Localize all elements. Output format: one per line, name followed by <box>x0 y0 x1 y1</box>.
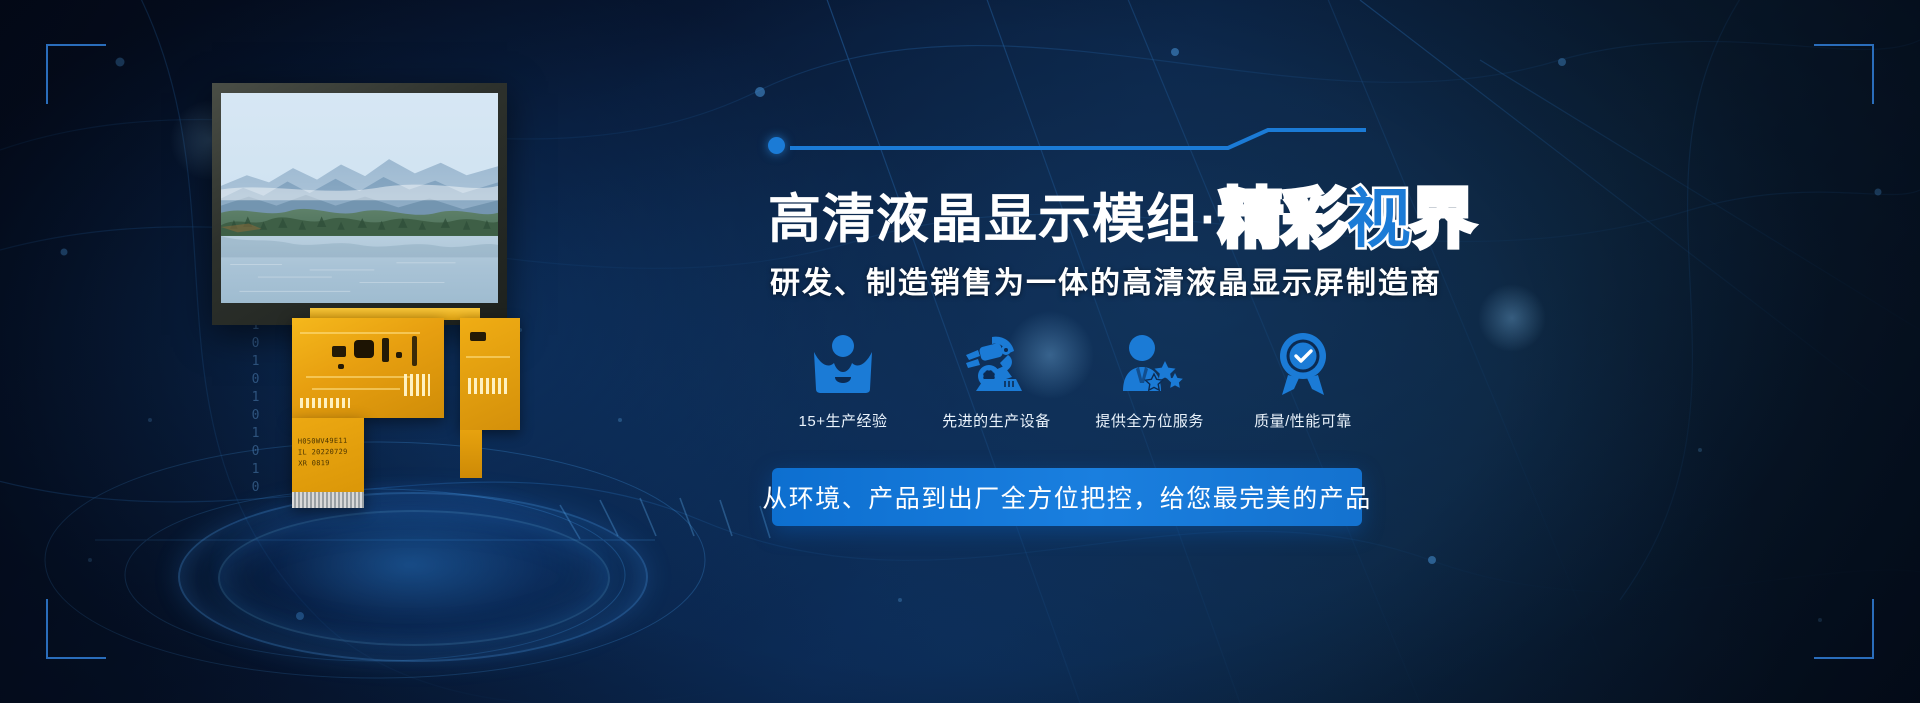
headline-highlight: 精彩视界 <box>1219 183 1475 255</box>
fpc-part-label: H050WV49E11 IL 20220729 XR 0819 <box>298 435 369 469</box>
lcd-module-product <box>212 83 507 325</box>
cta-banner[interactable]: 从环境、产品到出厂全方位把控，给您最完美的产品 <box>772 468 1362 526</box>
fpc-trace-1 <box>300 332 420 334</box>
feature-label-service: 提供全方位服务 <box>1075 410 1225 431</box>
fpc-secondary-tail <box>460 430 482 478</box>
fpc-secondary-board <box>460 318 520 430</box>
headline-char-1: 精 <box>1219 183 1283 255</box>
headline-char-2: 彩 <box>1283 183 1347 255</box>
fpc-pad-row-1 <box>404 374 430 396</box>
feature-label-equipment: 先进的生产设备 <box>921 410 1071 431</box>
fpc-chip-small-4 <box>338 364 344 369</box>
product-stage: H050WV49E11 IL 20220729 XR 0819 <box>60 40 740 660</box>
lcd-screen <box>221 93 498 303</box>
fpc-part-line-3: XR 0819 <box>298 457 368 469</box>
headline-prefix: 高清液晶显示模组· <box>768 190 1219 249</box>
fpc-chip-small-2 <box>382 338 389 362</box>
promo-banner: 01010101010 <box>0 0 1920 703</box>
fpc-connector-pins <box>412 336 417 366</box>
fpc-chip-small-3 <box>396 352 402 358</box>
robot-arm-icon <box>921 330 1071 398</box>
service-person-icon <box>1075 330 1225 398</box>
fpc-chip-small-1 <box>332 346 346 357</box>
headline-char-4: 界 <box>1411 183 1475 255</box>
feature-item-equipment[interactable]: 先进的生产设备 <box>921 330 1071 431</box>
feature-item-service[interactable]: 提供全方位服务 <box>1075 330 1225 431</box>
crown-icon <box>768 330 918 398</box>
title-accent-rule <box>768 128 1366 168</box>
quality-badge-icon <box>1228 330 1378 398</box>
headline-char-3: 视 <box>1347 183 1411 255</box>
fpc-gold-finger-strip <box>292 492 364 508</box>
feature-label-experience: 15+生产经验 <box>768 410 918 431</box>
banner-content: 高清液晶显示模组·精彩视界 研发、制造销售为一体的高清液晶显示屏制造商 15+生… <box>760 0 1880 703</box>
feature-item-experience[interactable]: 15+生产经验 <box>768 330 918 431</box>
feature-label-quality: 质量/性能可靠 <box>1228 410 1378 431</box>
fpc-secondary-pads <box>468 378 508 394</box>
fpc-trace-2 <box>306 376 410 378</box>
subheadline: 研发、制造销售为一体的高清液晶显示屏制造商 <box>770 258 1870 302</box>
feature-list: 15+生产经验 <box>768 330 1378 431</box>
fpc-chip-large <box>354 340 374 358</box>
screen-landscape-image <box>221 93 498 303</box>
headline: 高清液晶显示模组·精彩视界 <box>768 183 1868 247</box>
feature-item-quality[interactable]: 质量/性能可靠 <box>1228 330 1378 431</box>
fpc-secondary-trace <box>466 356 510 358</box>
fpc-pad-row-2 <box>300 398 350 408</box>
cta-text: 从环境、产品到出厂全方位把控，给您最完美的产品 <box>762 479 1372 515</box>
fpc-secondary-chip <box>470 332 486 341</box>
fpc-main-board <box>292 318 444 418</box>
title-rule-dot <box>768 137 785 154</box>
pedestal-ring-inner <box>218 510 610 646</box>
fpc-trace-3 <box>312 388 400 390</box>
